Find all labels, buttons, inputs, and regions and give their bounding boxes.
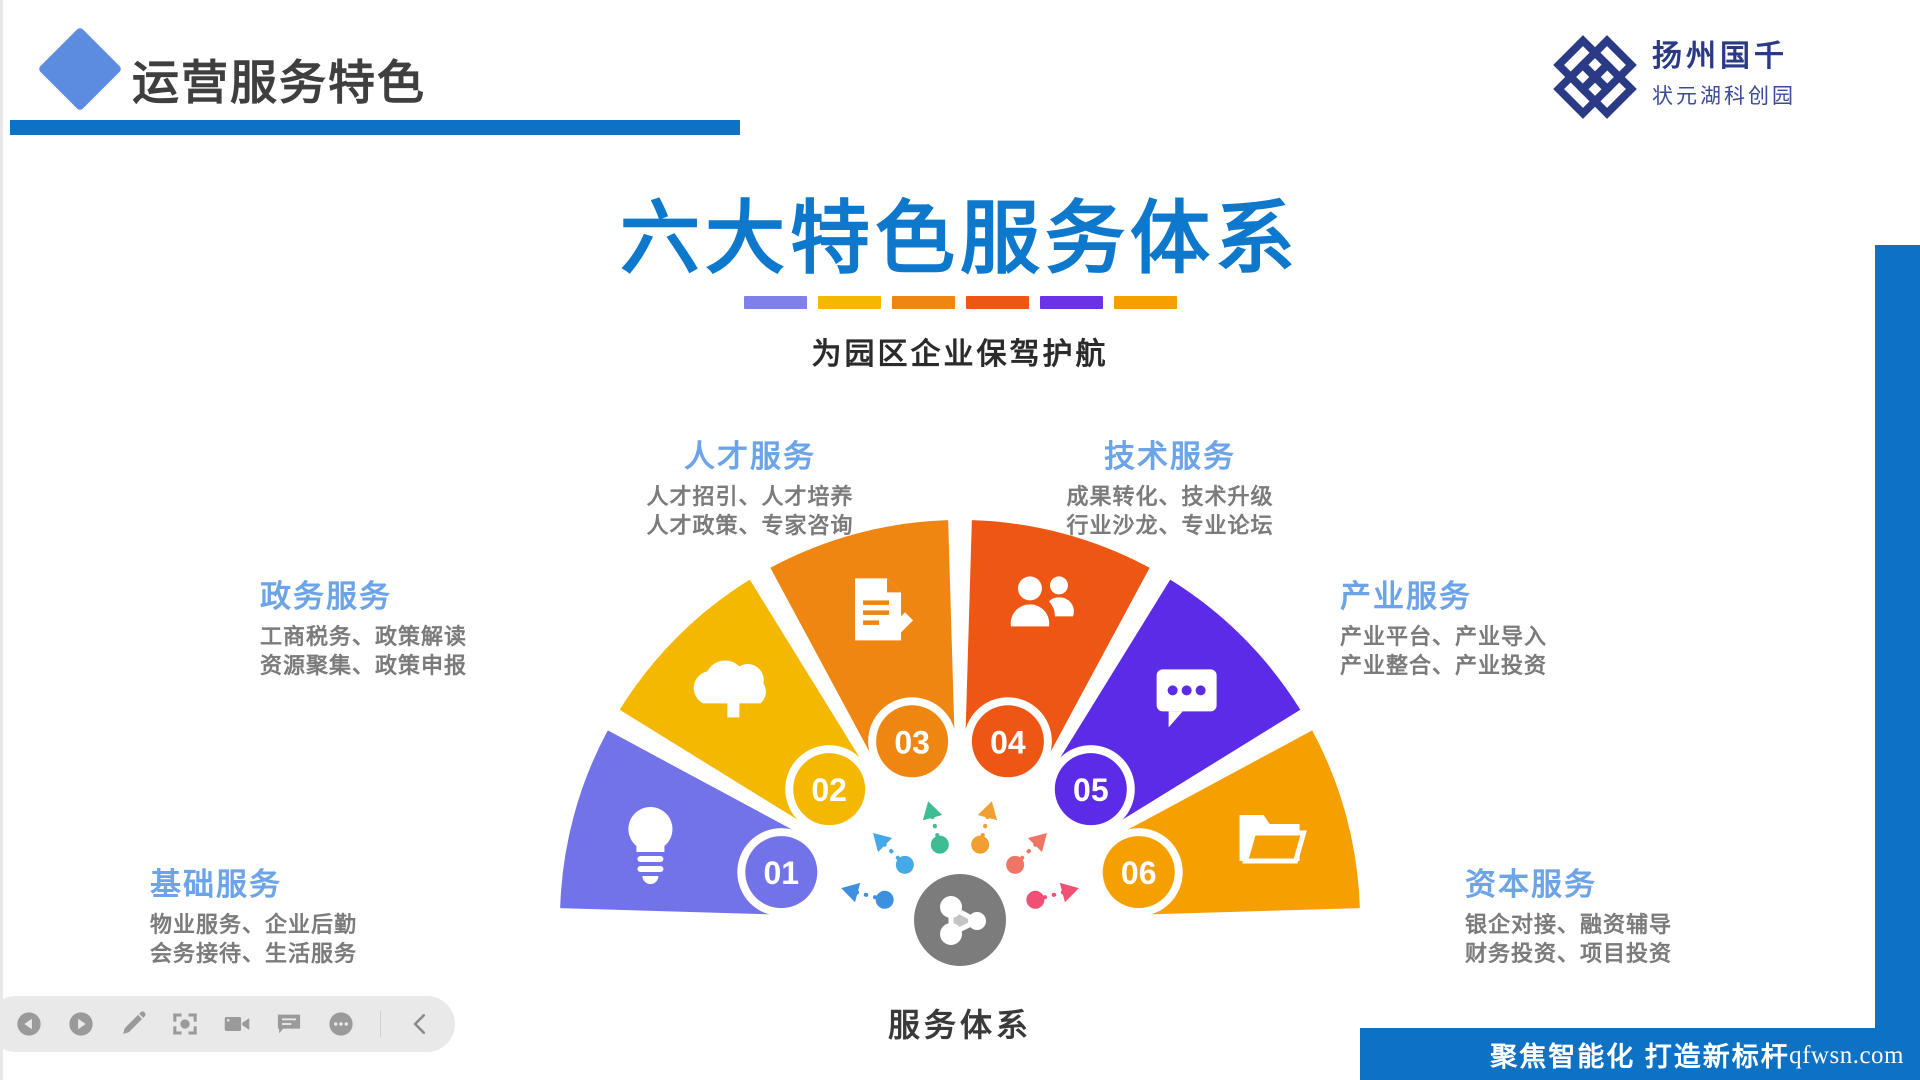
segment-desc: 成果转化、技术升级 行业沙龙、专业论坛 <box>1020 482 1320 540</box>
segment-desc-line: 财务投资、项目投资 <box>1465 939 1775 968</box>
connector-arrowhead <box>866 826 892 852</box>
segment-number: 06 <box>1121 855 1157 891</box>
segment-desc-line: 产业平台、产业导入 <box>1340 622 1670 651</box>
segment-label-02: 政务服务 工商税务、政策解读 资源聚集、政策申报 <box>260 578 590 680</box>
collapse-toolbar-button[interactable] <box>405 1009 435 1039</box>
connector-arrowhead <box>839 879 861 903</box>
segment-label-04: 技术服务 成果转化、技术升级 行业沙龙、专业论坛 <box>1020 438 1320 540</box>
logo-company-name: 扬州国千 <box>1652 38 1796 76</box>
connector-dot <box>876 891 894 909</box>
connector-dot <box>1006 856 1024 874</box>
connector-dot <box>896 856 914 874</box>
title-block: 六大特色服务体系 为园区企业保驾护航 <box>0 196 1920 373</box>
segment-title: 政务服务 <box>260 578 590 615</box>
segment-number: 02 <box>811 772 847 808</box>
segment-desc-line: 产业整合、产业投资 <box>1340 651 1670 680</box>
segment-desc-line: 人才政策、专家咨询 <box>600 511 900 540</box>
screenshot-button[interactable] <box>170 1009 200 1039</box>
banner-text: 聚焦智能化 打造新标杆 <box>1490 1035 1790 1074</box>
record-video-button[interactable] <box>222 1009 252 1039</box>
pen-tool-button[interactable] <box>118 1009 148 1039</box>
segment-number: 01 <box>764 855 800 891</box>
service-fan-diagram: 010203040506 <box>360 420 1560 980</box>
segment-desc-line: 成果转化、技术升级 <box>1020 482 1320 511</box>
color-dash <box>892 296 955 309</box>
segment-label-05: 产业服务 产业平台、产业导入 产业整合、产业投资 <box>1340 578 1670 680</box>
segment-title: 资本服务 <box>1465 866 1775 903</box>
segment-desc: 工商税务、政策解读 资源聚集、政策申报 <box>260 622 590 680</box>
connector-arrowhead <box>1028 826 1054 852</box>
segment-number: 03 <box>894 724 930 760</box>
segment-desc: 产业平台、产业导入 产业整合、产业投资 <box>1340 622 1670 680</box>
logo-text-block: 扬州国千 状元湖科创园 <box>1652 38 1796 110</box>
segment-desc-line: 会务接待、生活服务 <box>150 939 460 968</box>
segment-title: 技术服务 <box>1020 438 1320 475</box>
connector-arrowhead <box>978 799 1002 821</box>
segment-desc-line: 工商税务、政策解读 <box>260 622 590 651</box>
slide-canvas: 运营服务特色 扬州国千 状元湖科创园 六大特色服务体系 <box>0 0 1920 1080</box>
segment-number: 05 <box>1073 772 1109 808</box>
logo-park-name: 状元湖科创园 <box>1652 84 1796 110</box>
comment-button[interactable] <box>274 1009 304 1039</box>
presentation-toolbar[interactable] <box>0 996 455 1052</box>
watermark: qfwsn.com <box>1789 1042 1904 1070</box>
segment-desc-line: 行业沙龙、专业论坛 <box>1020 511 1320 540</box>
connector-dot <box>971 836 989 854</box>
segment-label-06: 资本服务 银企对接、融资辅导 财务投资、项目投资 <box>1465 866 1775 968</box>
segment-desc-line: 人才招引、人才培养 <box>600 482 900 511</box>
color-dash <box>818 296 881 309</box>
segment-desc: 银企对接、融资辅导 财务投资、项目投资 <box>1465 910 1775 968</box>
color-dash <box>966 296 1029 309</box>
interlocking-diamond-logo-icon <box>1552 34 1638 120</box>
diamond-icon <box>38 27 123 112</box>
segment-desc-line: 银企对接、融资辅导 <box>1465 910 1775 939</box>
segment-desc-line: 资源聚集、政策申报 <box>260 651 590 680</box>
page-left-edge <box>0 0 3 1080</box>
segment-label-03: 人才服务 人才招引、人才培养 人才政策、专家咨询 <box>600 438 900 540</box>
header-underline <box>10 120 740 135</box>
segment-number: 04 <box>990 724 1026 760</box>
next-slide-button[interactable] <box>66 1009 96 1039</box>
connector-dot <box>1026 891 1044 909</box>
segment-desc-line: 物业服务、企业后勤 <box>150 910 460 939</box>
main-title: 六大特色服务体系 <box>0 196 1920 282</box>
more-options-button[interactable] <box>326 1009 356 1039</box>
segment-desc: 人才招引、人才培养 人才政策、专家咨询 <box>600 482 900 540</box>
previous-slide-button[interactable] <box>14 1009 44 1039</box>
connector-arrowhead <box>1060 879 1082 903</box>
color-dash-row <box>0 296 1920 309</box>
color-dash <box>1114 296 1177 309</box>
connector-arrowhead <box>919 799 943 821</box>
segment-title: 人才服务 <box>600 438 900 475</box>
color-dash <box>744 296 807 309</box>
segment-title: 基础服务 <box>150 866 460 903</box>
page-title: 运营服务特色 <box>132 44 426 113</box>
toolbar-divider <box>380 1011 381 1037</box>
segment-label-01: 基础服务 物业服务、企业后勤 会务接待、生活服务 <box>150 866 460 968</box>
company-logo: 扬州国千 状元湖科创园 <box>1552 32 1882 124</box>
segment-desc: 物业服务、企业后勤 会务接待、生活服务 <box>150 910 460 968</box>
connector-dot <box>931 836 949 854</box>
color-dash <box>1040 296 1103 309</box>
segment-title: 产业服务 <box>1340 578 1670 615</box>
subtitle: 为园区企业保驾护航 <box>0 329 1920 373</box>
